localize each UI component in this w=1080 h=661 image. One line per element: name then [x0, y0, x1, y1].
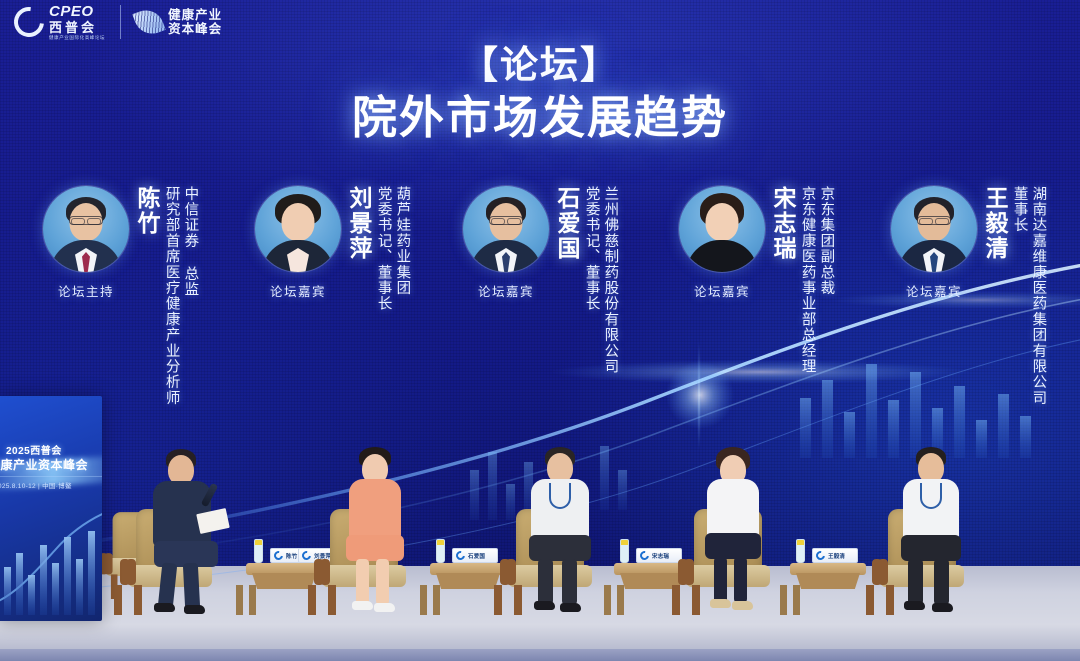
person-panelist-1 [342, 443, 408, 615]
podium-chart-graphic [0, 501, 102, 621]
person-panelist-3 [700, 443, 766, 615]
panelist-name-0: 陈竹 [135, 186, 158, 236]
panelist-title-3: 京东集团副总裁 京东健康医药事业部总经理 [797, 186, 834, 374]
panelist-card-4: 论坛嘉宾 王毅清 湖南达嘉维康医药集团有限公司 董事长 [888, 186, 1046, 406]
panelist-card-0: 论坛主持 陈竹 中信证券 总监 研究部首席医疗健康产业分析师 [40, 186, 198, 406]
panelist-photo-1 [255, 186, 341, 272]
person-panelist-2 [524, 443, 596, 615]
cpea-logo-sub: 健康产业国际化高峰论坛 [49, 36, 105, 41]
panelist-title-0-line0: 中信证券 总监 [182, 186, 199, 406]
panelist-role-1: 论坛嘉宾 [270, 281, 326, 300]
panelist-title-2: 兰州佛慈制药股份有限公司 党委书记、董事长 [581, 186, 618, 374]
health-capital-logo: 健康产业 资本峰会 [136, 8, 222, 36]
panelist-title-4: 湖南达嘉维康医药集团有限公司 董事长 [1009, 186, 1046, 406]
panelist-title-3-line1: 京东健康医药事业部总经理 [799, 186, 816, 374]
logo-divider [120, 5, 121, 39]
panel-seating-area: 陈竹 刘景萍 [0, 400, 1080, 661]
nameplate-logo-icon [300, 549, 313, 562]
panelist-name-2: 石爱国 [555, 186, 578, 261]
podium-banner-line1: 2025西普会 [6, 442, 62, 457]
nameplate-logo-icon [814, 549, 827, 562]
person-panelist-4 [896, 443, 966, 615]
panelist-role-0: 论坛主持 [58, 281, 114, 300]
forum-title-bracket: 【论坛】 [0, 44, 1080, 89]
health-logo-line1: 健康产业 [168, 8, 222, 22]
panelist-name-4: 王毅清 [983, 186, 1006, 261]
cpea-logo: CPEO 西普会 健康产业国际化高峰论坛 [14, 4, 105, 41]
panelist-name-1: 刘景萍 [347, 186, 370, 261]
nameplate-0-text: 陈竹 [286, 552, 297, 560]
panelist-photo-4 [891, 186, 977, 272]
nameplate-4-text: 王毅清 [828, 552, 845, 560]
panelist-photo-0 [43, 186, 129, 272]
podium-banner-line2: 健康产业资本峰会 [0, 456, 88, 473]
person-moderator [150, 445, 220, 615]
podium-banner-date: 2025.8.10-12 | 中国·博鳌 [0, 480, 72, 490]
podium-divider [0, 476, 102, 477]
panelist-title-0-line1: 研究部首席医疗健康产业分析师 [163, 186, 180, 406]
nameplate-4: 王毅清 [812, 548, 858, 563]
panelist-title-1: 葫芦娃药业集团 党委书记、董事长 [373, 186, 410, 312]
panelist-role-4: 论坛嘉宾 [906, 281, 962, 300]
panelist-card-1: 论坛嘉宾 刘景萍 葫芦娃药业集团 党委书记、董事长 [252, 186, 410, 312]
nameplate-3: 宋志瑞 [636, 548, 682, 563]
nameplate-logo-icon [272, 549, 285, 562]
panelist-role-2: 论坛嘉宾 [478, 281, 534, 300]
panelist-title-1-line1: 党委书记、董事长 [375, 186, 392, 312]
panelist-title-1-line0: 葫芦娃药业集团 [394, 186, 411, 312]
cpea-logo-en: CPEO [49, 4, 105, 19]
nameplate-2: 石爱国 [452, 548, 498, 563]
nameplate-logo-icon [454, 549, 467, 562]
event-logo-bar: CPEO 西普会 健康产业国际化高峰论坛 健康产业 资本峰会 [14, 4, 222, 41]
panelist-card-2: 论坛嘉宾 石爱国 兰州佛慈制药股份有限公司 党委书记、董事长 [460, 186, 618, 374]
panelist-title-3-line0: 京东集团副总裁 [818, 186, 835, 374]
panelist-title-4-line1: 董事长 [1011, 186, 1028, 406]
panelist-role-3: 论坛嘉宾 [694, 281, 750, 300]
panelist-title-2-line1: 党委书记、董事长 [583, 186, 600, 374]
forum-title-block: 【论坛】 院外市场发展趋势 [0, 44, 1080, 145]
cpea-logo-cn: 西普会 [49, 21, 105, 34]
nameplate-logo-icon [638, 549, 651, 562]
panelist-card-row: 论坛主持 陈竹 中信证券 总监 研究部首席医疗健康产业分析师 论坛嘉宾 刘景萍 [0, 186, 1080, 436]
conference-stage-photo: CPEO 西普会 健康产业国际化高峰论坛 健康产业 资本峰会 【论坛】 院外市场… [0, 0, 1080, 661]
nameplate-3-text: 宋志瑞 [652, 552, 669, 560]
panelist-name-3: 宋志瑞 [771, 186, 794, 261]
forum-title-main: 院外市场发展趋势 [0, 91, 1080, 145]
panelist-card-3: 论坛嘉宾 宋志瑞 京东集团副总裁 京东健康医药事业部总经理 [676, 186, 834, 374]
circle-logo-icon [8, 1, 50, 43]
panelist-title-4-line0: 湖南达嘉维康医药集团有限公司 [1030, 186, 1047, 406]
panelist-photo-2 [463, 186, 549, 272]
panelist-photo-3 [679, 186, 765, 272]
panelist-title-2-line0: 兰州佛慈制药股份有限公司 [602, 186, 619, 374]
panelist-title-0: 中信证券 总监 研究部首席医疗健康产业分析师 [161, 186, 198, 406]
nameplate-2-text: 石爱国 [468, 552, 485, 560]
leaf-icon [132, 6, 165, 39]
health-logo-line2: 资本峰会 [168, 22, 222, 36]
